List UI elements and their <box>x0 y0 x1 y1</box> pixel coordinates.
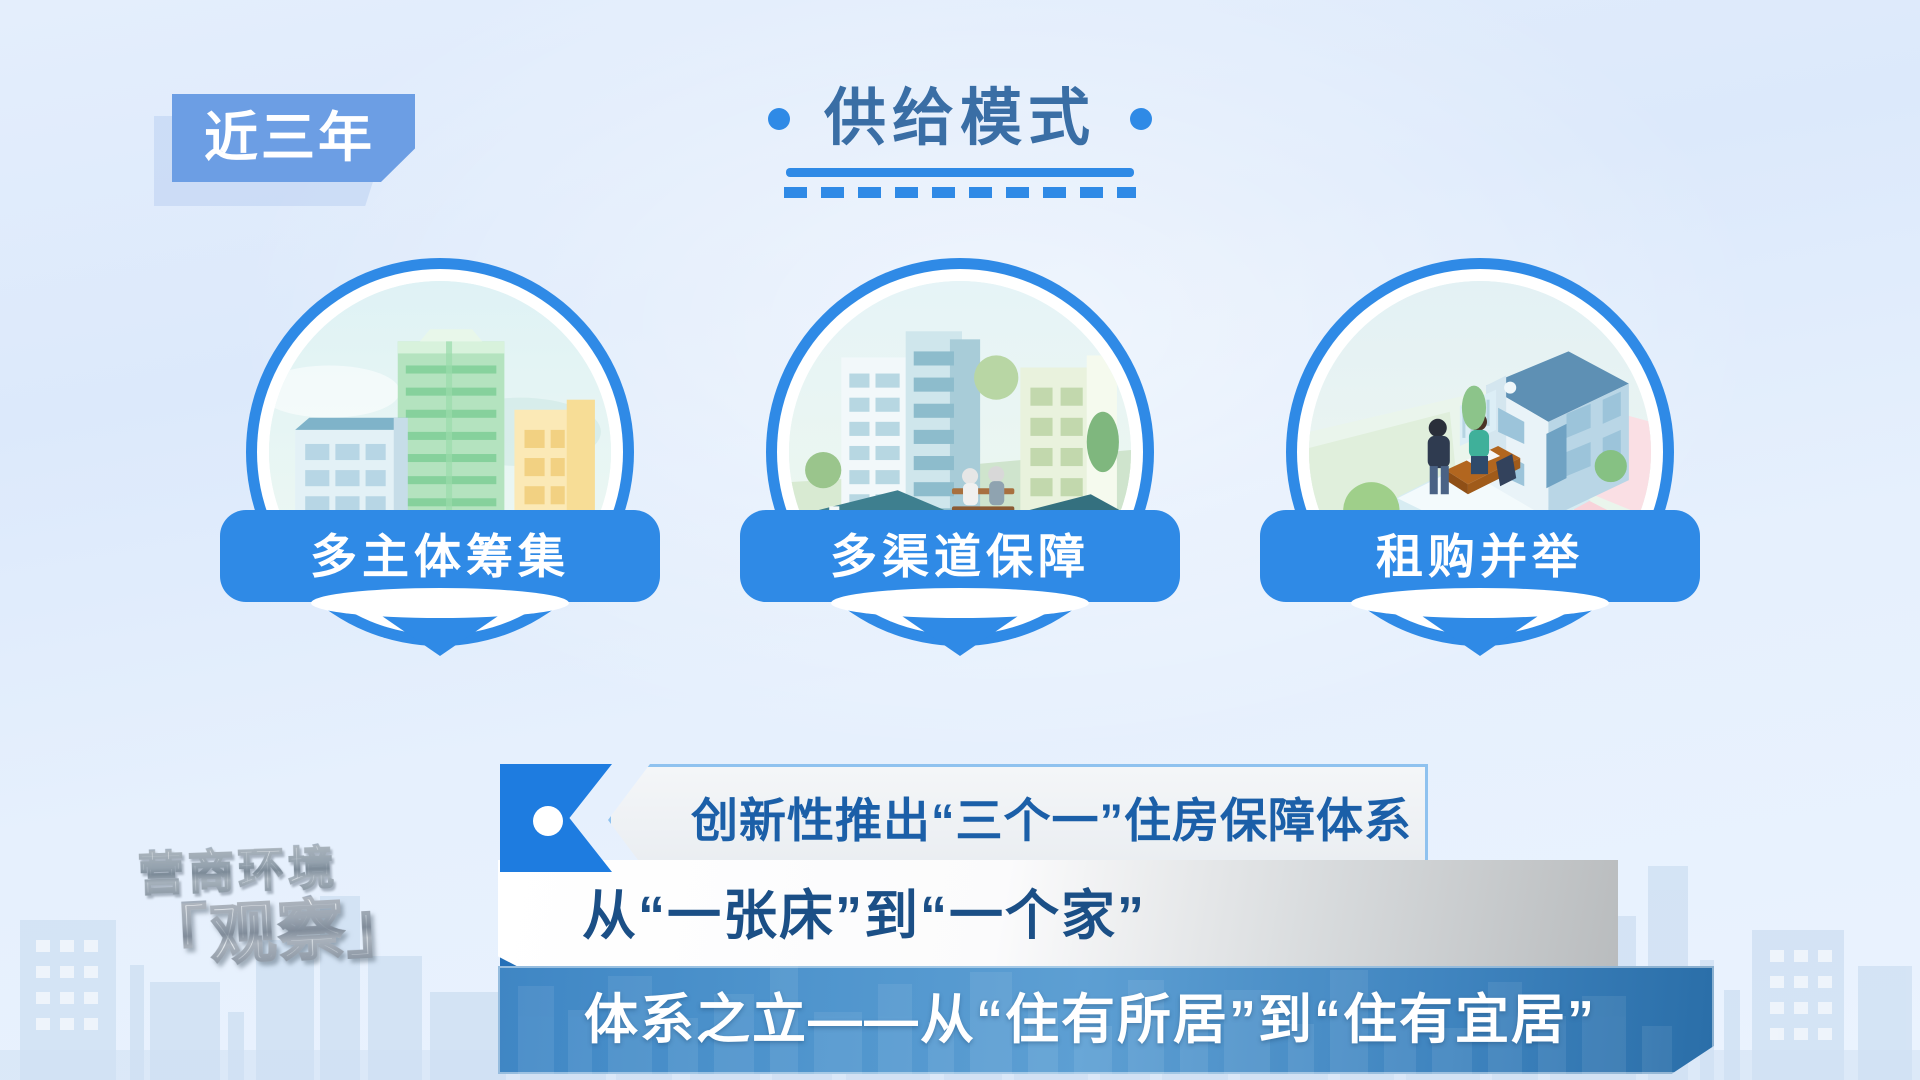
badge-arc-separator <box>831 588 1089 618</box>
banner-pointer-dot-icon <box>533 806 563 836</box>
badge-label-text: 多主体筹集 <box>310 533 570 580</box>
badge-arc-separator <box>1351 588 1609 618</box>
banner-secondary[interactable]: 从“一张床”到“一个家” <box>498 860 1618 972</box>
header-solid-rule <box>786 168 1134 177</box>
badge-label-text: 租购并举 <box>1376 533 1584 580</box>
banner-primary-text: 创新性推出“三个一”住房保障体系 <box>691 797 1412 844</box>
header-right-dot-icon <box>1130 108 1152 130</box>
badge-group: 多主体筹集 <box>0 258 1920 698</box>
header-left-dot-icon <box>768 108 790 130</box>
badge-label-text: 多渠道保障 <box>830 533 1090 580</box>
header-row: 供给模式 <box>768 88 1152 150</box>
header-dashed-rule <box>784 187 1136 198</box>
page-title: 供给模式 <box>824 88 1096 150</box>
program-logo: 营商环境 「观察」 <box>138 846 438 1046</box>
badge-item[interactable]: 多渠道保障 <box>750 258 1170 698</box>
banner-tertiary[interactable]: 体系之立——从“住有所居”到“住有宜居” <box>498 966 1714 1074</box>
badge-item[interactable]: 多主体筹集 <box>230 258 650 698</box>
banner-primary[interactable]: 创新性推出“三个一”住房保障体系 <box>608 764 1428 876</box>
badge-arc-separator <box>311 588 569 618</box>
program-logo-line2: 「观察」 <box>140 890 439 971</box>
badge-item[interactable]: 租购并举 <box>1270 258 1690 698</box>
banner-tertiary-text: 体系之立——从“住有所居”到“住有宜居” <box>584 993 1596 1047</box>
banner-secondary-text: 从“一张床”到“一个家” <box>582 889 1146 943</box>
page-header: 供给模式 <box>0 88 1920 198</box>
